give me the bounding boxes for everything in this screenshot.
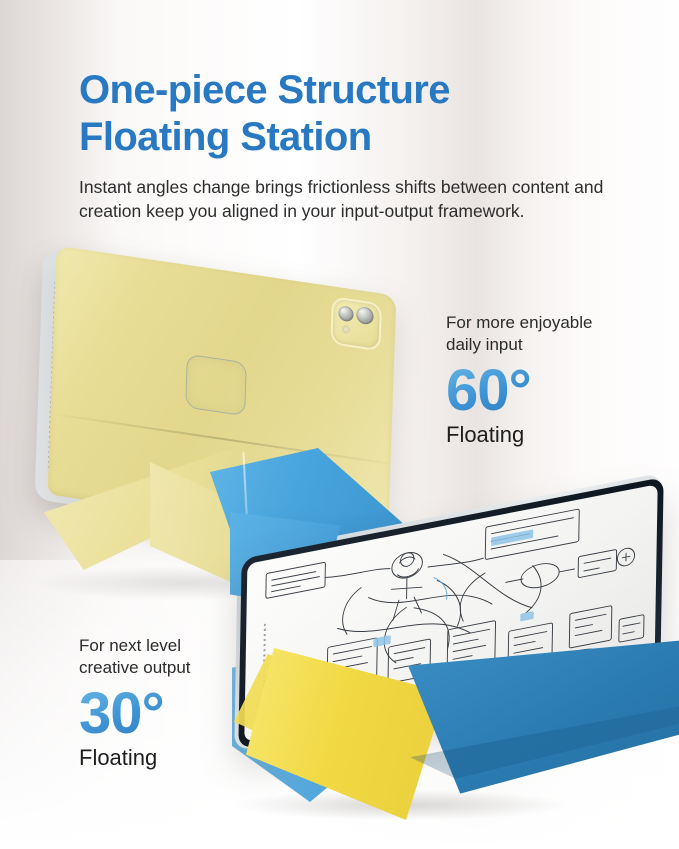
- page-title: One-piece Structure Floating Station: [79, 67, 599, 161]
- camera-flash-icon: [342, 325, 350, 334]
- camera-module-icon: [330, 296, 382, 351]
- lower-tablet-device: [228, 512, 679, 832]
- callout-60-lead: For more enjoyable daily input: [446, 312, 646, 356]
- callout-30-state-label: Floating: [79, 745, 289, 771]
- camera-lens-icon: [338, 305, 354, 322]
- callout-30-lead: For next level creative output: [79, 635, 289, 679]
- product-marketing-image: One-piece Structure Floating Station Ins…: [0, 0, 679, 849]
- callout-30-degrees: For next level creative output 30° Float…: [79, 635, 289, 771]
- camera-lens-icon: [356, 306, 374, 325]
- callout-60-state-label: Floating: [446, 422, 646, 448]
- subtitle-copy: Instant angles change brings frictionles…: [79, 175, 609, 225]
- headline-line-2: Floating Station: [79, 114, 599, 161]
- callout-30-angle-value: 30°: [79, 685, 289, 743]
- headline-line-1: One-piece Structure: [79, 68, 450, 112]
- callout-60-angle-value: 60°: [446, 362, 646, 420]
- callout-60-degrees: For more enjoyable daily input 60° Float…: [446, 312, 646, 448]
- magnetic-fold-pad: [185, 354, 247, 417]
